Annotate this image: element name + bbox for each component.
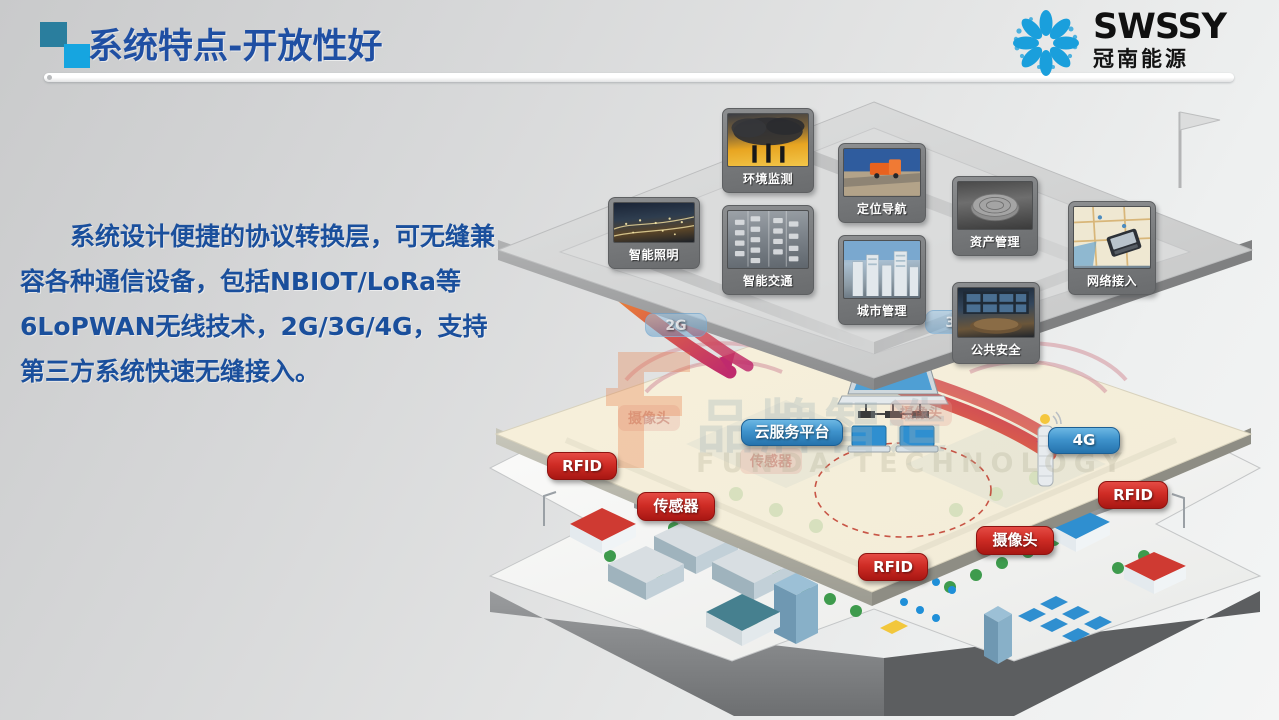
app-card-smart-lighting[interactable]: 智能照明: [608, 197, 700, 269]
pill-rfid-left[interactable]: RFID: [547, 452, 617, 480]
body-paragraph-block: 系统设计便捷的协议转换层，可无缝兼容各种通信设备，包括NBIOT/LoRa等6L…: [20, 214, 498, 394]
thumb-map-pda-device: [1073, 206, 1151, 269]
pill-rfid-right[interactable]: RFID: [1098, 481, 1168, 509]
app-card-smart-traffic[interactable]: 智能交通: [722, 205, 814, 295]
thumb-control-room: [957, 287, 1035, 338]
logo-wordmark: SWSSY 冠南能源: [1093, 8, 1253, 72]
pill-cloud-service-platform[interactable]: 云服务平台: [741, 419, 843, 446]
decor-square-light: [64, 44, 90, 68]
pill-sensor[interactable]: 传感器: [637, 492, 715, 521]
app-card-asset-management[interactable]: 资产管理: [952, 176, 1038, 256]
thumb-smokestack-pollution: [727, 113, 809, 167]
pill-2g: 2G: [645, 313, 707, 337]
app-card-label: 环境监测: [727, 167, 809, 192]
app-card-label: 智能照明: [613, 243, 695, 268]
thumb-traffic-jam: [727, 210, 809, 269]
app-card-positioning-navigation[interactable]: 定位导航: [838, 143, 926, 223]
app-card-label: 网络接入: [1073, 269, 1151, 294]
thumb-manhole-cover: [957, 181, 1033, 230]
app-card-environment-monitoring[interactable]: 环境监测: [722, 108, 814, 193]
ghost-label-sensor: 传感器: [740, 448, 802, 474]
app-card-label: 公共安全: [957, 338, 1035, 363]
slide-header: 系统特点-开放性好: [0, 0, 1279, 92]
app-card-network-access[interactable]: 网络接入: [1068, 201, 1156, 295]
app-card-label: 城市管理: [843, 299, 921, 324]
pill-camera[interactable]: 摄像头: [976, 526, 1054, 555]
thumb-skyscrapers-aerial: [843, 240, 921, 299]
isometric-architecture-diagram: 2G 3G 摄像头 传感器 摄像头 品牌智造 FUNDA TECHNOLOGY: [480, 86, 1279, 720]
thumb-truck-highway: [843, 148, 921, 197]
pill-rfid-center[interactable]: RFID: [858, 553, 928, 581]
thumb-night-city-lights: [613, 202, 695, 243]
company-logo: SWSSY 冠南能源: [1007, 6, 1257, 78]
page-title: 系统特点-开放性好: [88, 18, 383, 69]
app-card-city-management[interactable]: 城市管理: [838, 235, 926, 325]
app-card-label: 智能交通: [727, 269, 809, 294]
body-paragraph: 系统设计便捷的协议转换层，可无缝兼容各种通信设备，包括NBIOT/LoRa等6L…: [20, 214, 498, 394]
water-droplet-flower-icon: [1007, 10, 1085, 76]
decor-square-dark: [40, 22, 67, 47]
ghost-label-camera-left: 摄像头: [618, 405, 680, 431]
logo-brand-cn: 冠南能源: [1093, 46, 1253, 72]
pill-4g[interactable]: 4G: [1048, 427, 1120, 454]
ghost-label-camera-right: 摄像头: [890, 400, 952, 426]
app-card-label: 资产管理: [957, 230, 1033, 255]
logo-brand-en: SWSSY: [1093, 8, 1253, 46]
app-card-label: 定位导航: [843, 197, 921, 222]
app-card-public-safety[interactable]: 公共安全: [952, 282, 1040, 364]
